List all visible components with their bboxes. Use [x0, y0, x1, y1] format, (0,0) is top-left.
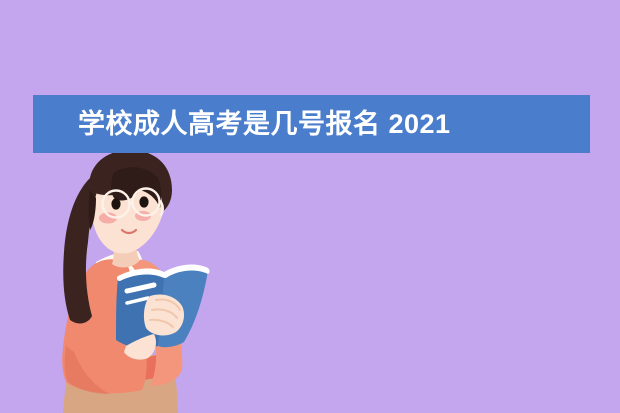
page-title: 学校成人高考是几号报名 2021: [78, 111, 451, 138]
article-header-poster: 学校成人高考是几号报名 2021: [0, 0, 620, 413]
title-banner: 学校成人高考是几号报名 2021: [33, 95, 590, 153]
left-eye: [111, 198, 120, 209]
woman-reading-book-illustration: [30, 150, 260, 413]
right-eye: [139, 196, 148, 207]
